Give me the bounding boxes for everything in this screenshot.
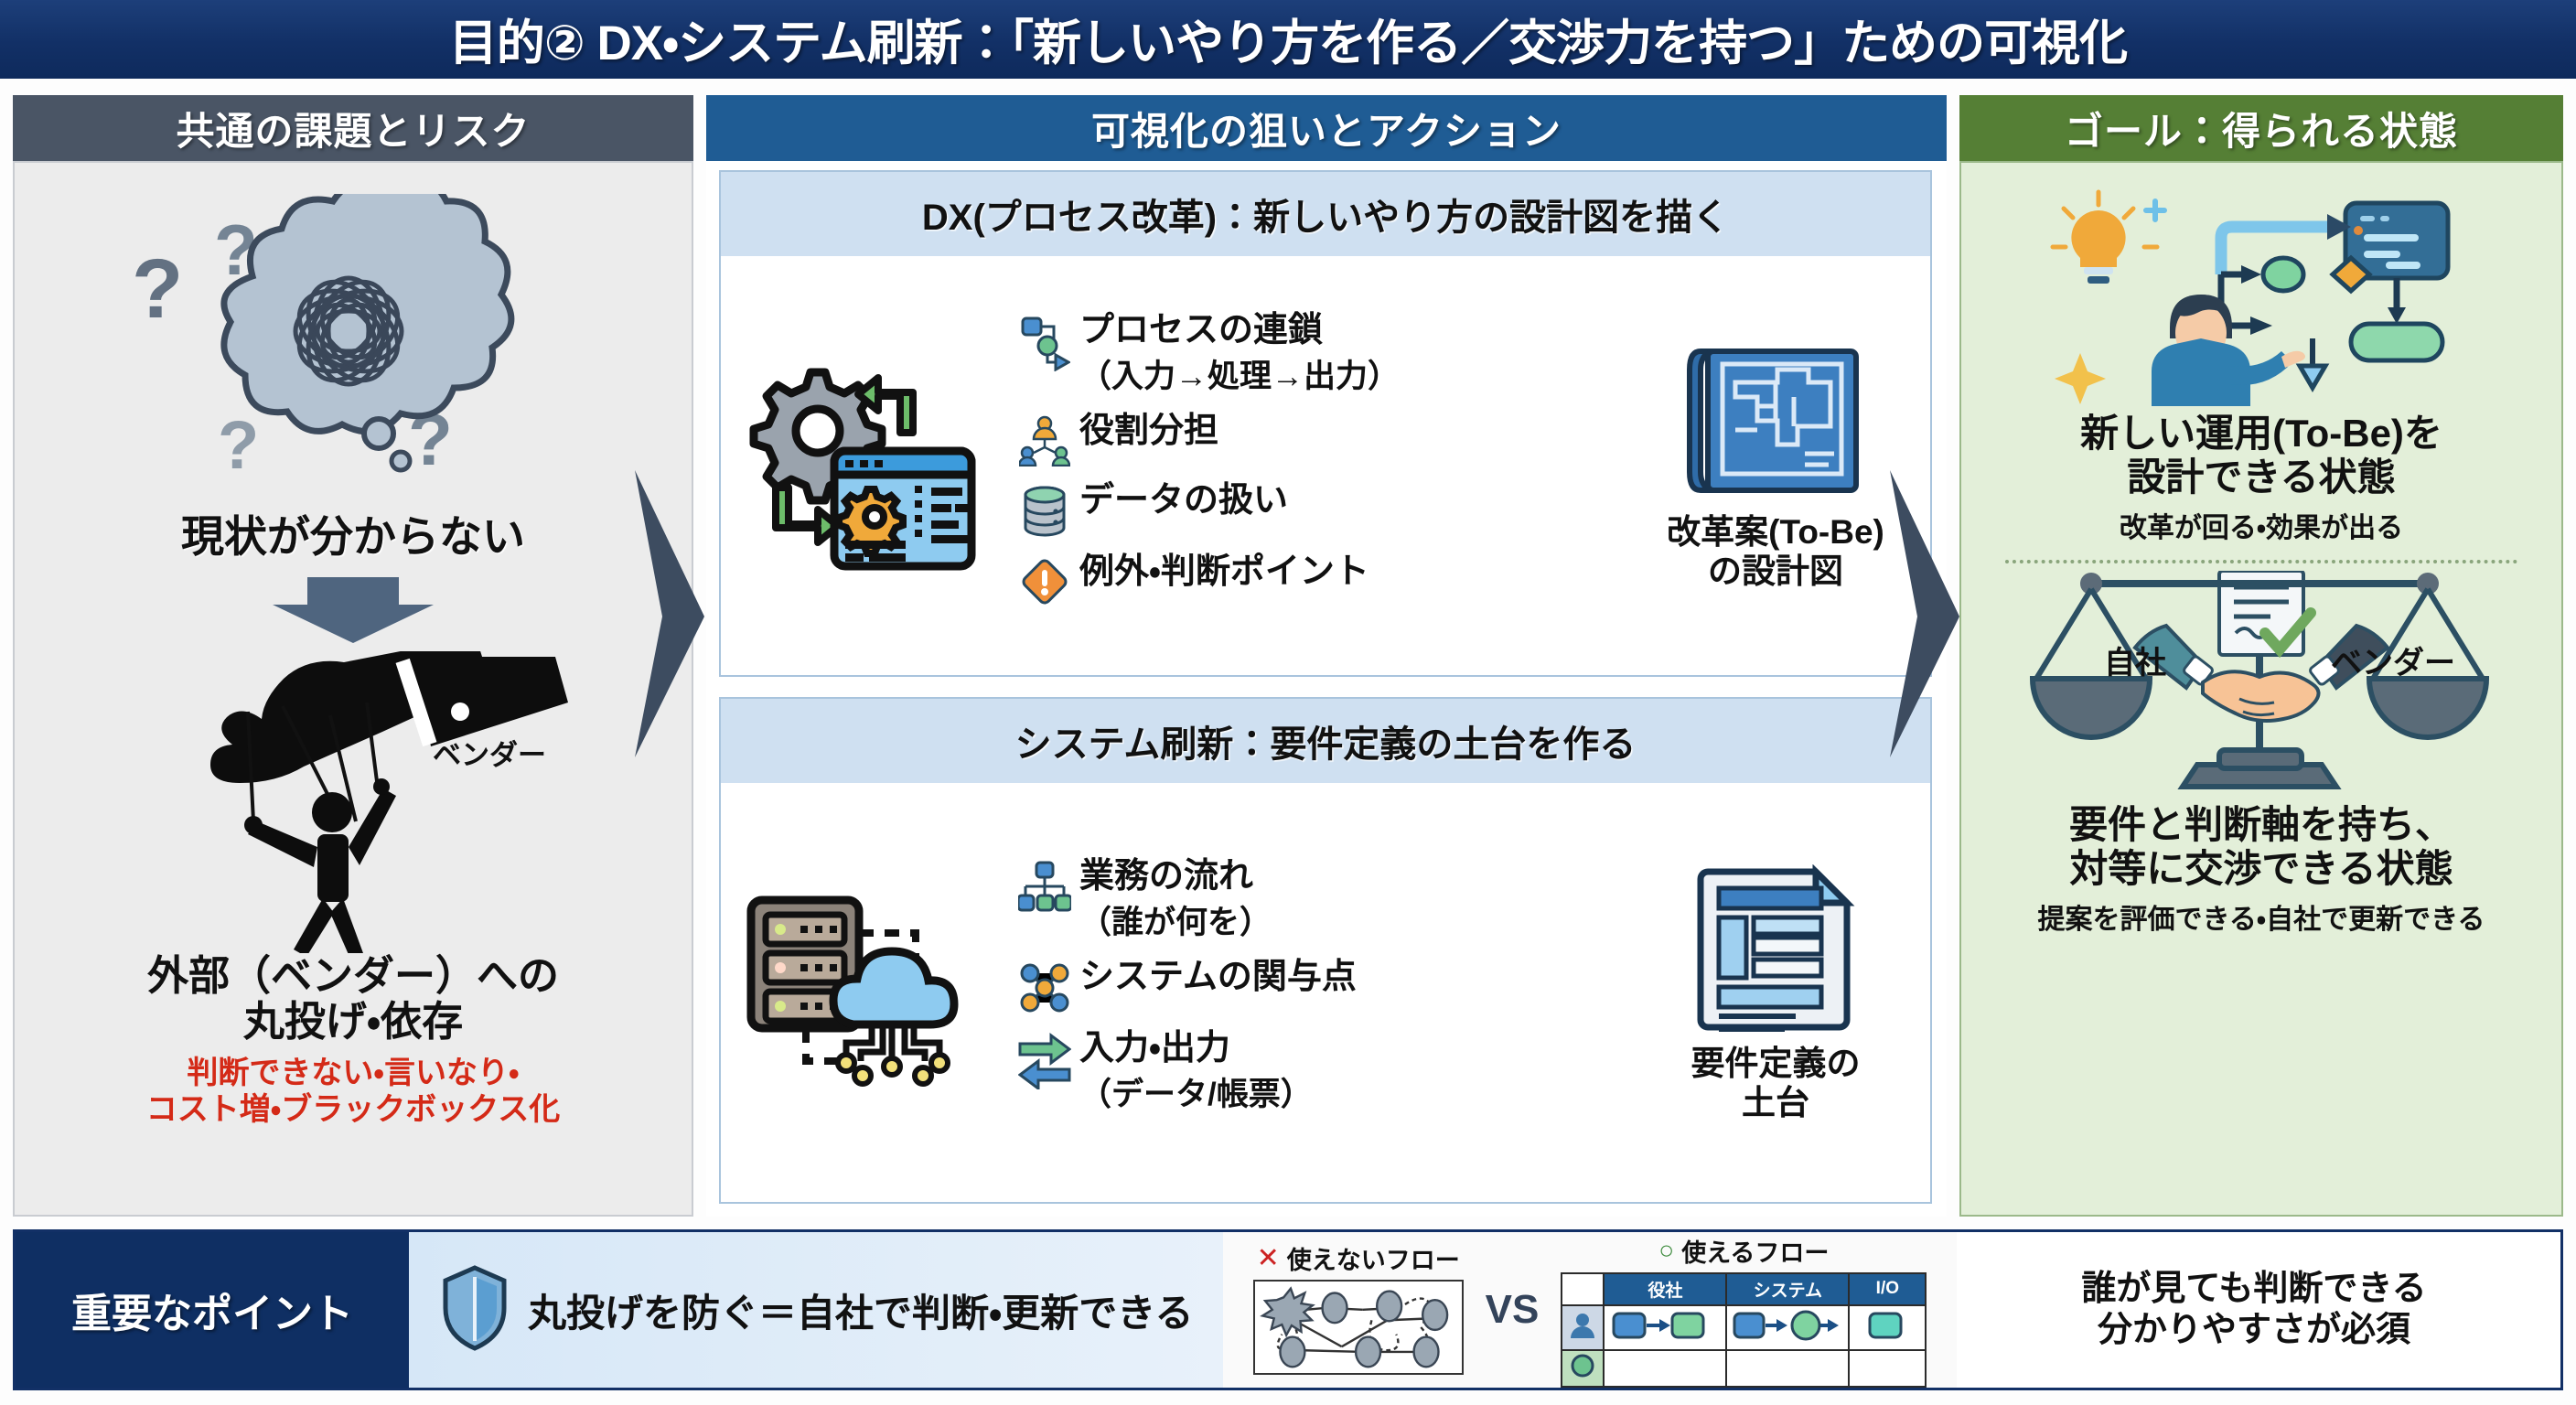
svg-text:?: ? [218,407,259,483]
bullet-process-chain: プロセスの連鎖 （入力→処理→出力） [1010,311,1628,397]
panel-dx: DX(プロセス改革)：新しいやり方の設計図を描く [719,170,1932,677]
bullet-data-handling: データの扱い [1010,481,1628,538]
design-to-be-illustration [2042,177,2481,406]
page-title: 目的② DX・システム刷新：「新しいやり方を作る／交渉力を持つ」ための可視化 [449,5,2127,74]
panel-system-bullets: 業務の流れ （誰が何を） [1004,857,1628,1129]
bullet-input-output-sub: （データ/帳票） [1079,1077,1313,1112]
goal-design-line1: 新しい運用(To-Be)を [2080,412,2442,456]
org-tree-icon [1010,857,1079,914]
bullet-role-split: 役割分担 [1010,412,1628,467]
panel-dx-output-line2: の設計図 [1628,552,1923,592]
bad-flow-title: 使えないフロー [1287,1240,1460,1276]
goal-negotiate-sub: 提案を評価できる・自社で更新できる [2038,896,2485,937]
footer-comparison: ✕ 使えないフロー [1223,1232,1957,1388]
footer-conclusion-line1: 誰が見ても判断できる [2081,1269,2426,1310]
swim-cell-company [1604,1305,1726,1350]
risk-text: 判断できない・言いなり・ コスト増・ブラックボックス化 [146,1055,561,1128]
messy-flow-diagram [1253,1280,1464,1375]
panel-system-output-line2: 土台 [1628,1084,1923,1123]
bullet-business-flow: 業務の流れ （誰が何を） [1010,857,1628,943]
bullet-process-chain-label: プロセスの連鎖 [1079,311,1323,349]
bullet-data-handling-label: データの扱い [1079,481,1288,520]
goal-divider [2005,560,2517,563]
swim-col-company: 役社 [1604,1273,1726,1305]
footer-message-block: 丸投げを防ぐ＝自社で判断・更新できる [409,1232,1223,1388]
column-goal: ゴール：得られる状態 [1959,95,2563,1217]
people-roles-icon [1010,412,1079,467]
vs-label: VS [1486,1287,1540,1333]
vendor-tag-label: ベンダー [433,732,546,773]
column-goal-header: ゴール：得られる状態 [1959,95,2563,161]
swim-lane-icon-system [1562,1350,1604,1387]
panel-system-output-line1: 要件定義の [1628,1045,1923,1084]
panel-dx-output-line1: 改革案(To-Be) [1628,513,1923,552]
footer-key-point: 重要なポイント 丸投げを防ぐ＝自社で判断・更新できる ✕ 使えないフロー [13,1229,2563,1390]
arrow-actions-to-goal [1886,463,1963,769]
goal-negotiate-line1: 要件と判断軸を持ち、 [2069,803,2453,847]
shield-icon [442,1264,508,1357]
table-row [1562,1350,1926,1387]
panel-system-header: システム刷新：要件定義の土台を作る [721,699,1930,783]
infographic-page: 目的② DX・システム刷新：「新しいやり方を作る／交渉力を持つ」ための可視化 共… [0,0,2576,1405]
panel-dx-bullets: プロセスの連鎖 （入力→処理→出力） [1004,311,1628,622]
footer-conclusion: 誰が見ても判断できる 分かりやすさが必須 [1957,1232,2560,1388]
column-problems: 共通の課題とリスク ? ? ? ? ? [13,95,693,1217]
problem-outsourcing-label: 外部（ベンダー）への 丸投げ・依存 [147,953,559,1046]
column-actions-body: DX(プロセス改革)：新しいやり方の設計図を描く [706,161,1947,1217]
table-header-row: 役社 システム I/O [1562,1273,1926,1305]
warning-diamond-icon [1010,552,1079,607]
scale-right-label-text: ベンダー [2331,646,2455,681]
good-flow-block: ○ 使えるフロー 役社 システム I/O [1561,1233,1927,1388]
bullet-process-chain-sub: （入力→処理→出力） [1079,359,1400,394]
goal-negotiate-line2: 対等に交渉できる状態 [2069,847,2453,891]
bullet-exception-point: 例外・判断ポイント [1010,552,1628,607]
svg-text:?: ? [132,242,183,336]
bad-flow-block: ✕ 使えないフロー [1253,1240,1464,1379]
problem-outsourcing-line2: 丸投げ・依存 [147,999,559,1045]
arrow-problems-to-actions [631,463,708,769]
network-nodes-icon [1010,958,1079,1014]
swim-cell-empty-3 [1849,1350,1926,1387]
bullet-exception-point-label: 例外・判断ポイント [1079,552,1369,592]
column-actions-header: 可視化の狙いとアクション [706,95,1947,161]
swim-col-io: I/O [1849,1273,1926,1305]
down-arrow-icon [271,577,435,649]
bullet-business-flow-text: 業務の流れ （誰が何を） [1079,857,1272,943]
bullet-business-flow-label: 業務の流れ [1079,857,1253,896]
column-problems-header: 共通の課題とリスク [13,95,693,161]
scale-left-label-text: 自社 [2104,646,2166,681]
bullet-text-wrap: プロセスの連鎖 （入力→処理→出力） [1079,311,1400,397]
swim-lane-icon-person [1562,1305,1604,1350]
good-flow-title: 使えるフロー [1681,1233,1829,1269]
panel-dx-output: 改革案(To-Be) の設計図 [1628,342,1930,591]
goal-design-sub: 改革が回る・効果が出る [2120,505,2403,545]
footer-label: 重要なポイント [16,1232,409,1388]
column-goal-body: 新しい運用(To-Be)を 設計できる状態 改革が回る・効果が出る [1959,161,2563,1217]
swim-cell-system [1726,1305,1849,1350]
risk-line1: 判断できない・言いなり・ [146,1055,561,1091]
footer-message: 丸投げを防ぐ＝自社で判断・更新できる [528,1282,1193,1338]
problem-outsourcing-line1: 外部（ベンダー）への [147,953,559,999]
goal-design-title: 新しい運用(To-Be)を 設計できる状態 [2080,412,2442,499]
swimlane-table: 役社 システム I/O [1561,1272,1927,1388]
gear-browser-cycle-icon [721,352,1004,581]
good-flow-title-row: ○ 使えるフロー [1561,1233,1927,1269]
cross-icon: ✕ [1257,1242,1280,1274]
panel-system-output: 要件定義の 土台 [1628,864,1930,1122]
panel-system-output-label: 要件定義の 土台 [1628,1045,1923,1122]
bullet-system-touchpoints: システムの関与点 [1010,958,1628,1014]
swim-col-blank [1562,1273,1604,1305]
two-way-arrows-icon [1010,1029,1079,1089]
panel-dx-output-label: 改革案(To-Be) の設計図 [1628,513,1923,591]
bullet-input-output-label: 入力・出力 [1079,1029,1230,1067]
document-spec-icon [1693,864,1858,1035]
confusion-cloud-illustration: ? ? ? ? ? [115,194,591,496]
circle-icon: ○ [1658,1236,1674,1265]
bullet-input-output-text: 入力・出力 （データ/帳票） [1079,1029,1313,1115]
column-problems-body: ? ? ? ? ? [13,161,693,1217]
page-title-bar: 目的② DX・システム刷新：「新しいやり方を作る／交渉力を持つ」ための可視化 [0,0,2576,79]
panel-system-body: 業務の流れ （誰が何を） [721,783,1930,1204]
bullet-system-touchpoints-label: システムの関与点 [1079,958,1357,997]
goal-design-line2: 設計できる状態 [2080,456,2442,499]
goal-negotiate-title: 要件と判断軸を持ち、 対等に交渉できる状態 [2069,803,2453,891]
swim-col-system: システム [1726,1273,1849,1305]
negotiation-balance-illustration: 自社 ベンダー [2023,571,2499,799]
panel-dx-header: DX(プロセス改革)：新しいやり方の設計図を描く [721,172,1930,256]
risk-line2: コスト増・ブラックボックス化 [146,1091,561,1128]
swim-cell-empty-2 [1726,1350,1849,1387]
bad-flow-title-row: ✕ 使えないフロー [1253,1240,1464,1276]
swim-cell-io [1849,1305,1926,1350]
panel-dx-body: プロセスの連鎖 （入力→処理→出力） [721,256,1930,677]
database-icon [1010,481,1079,538]
vendor-puppet-illustration: ベンダー [138,651,568,953]
swim-cell-empty-1 [1604,1350,1726,1387]
blueprint-icon [1684,342,1867,503]
bullet-input-output: 入力・出力 （データ/帳票） [1010,1029,1628,1115]
footer-conclusion-line2: 分かりやすさが必須 [2098,1310,2410,1351]
column-actions: 可視化の狙いとアクション DX(プロセス改革)：新しいやり方の設計図を描く [706,95,1947,1217]
bullet-business-flow-sub: （誰が何を） [1079,905,1272,940]
panel-system: システム刷新：要件定義の土台を作る [719,697,1932,1204]
server-cloud-icon [721,884,1004,1103]
bullet-role-split-label: 役割分担 [1079,412,1218,451]
table-row [1562,1305,1926,1350]
problem-unknown-label: 現状が分からない [181,501,525,564]
flow-nodes-icon [1010,311,1079,371]
